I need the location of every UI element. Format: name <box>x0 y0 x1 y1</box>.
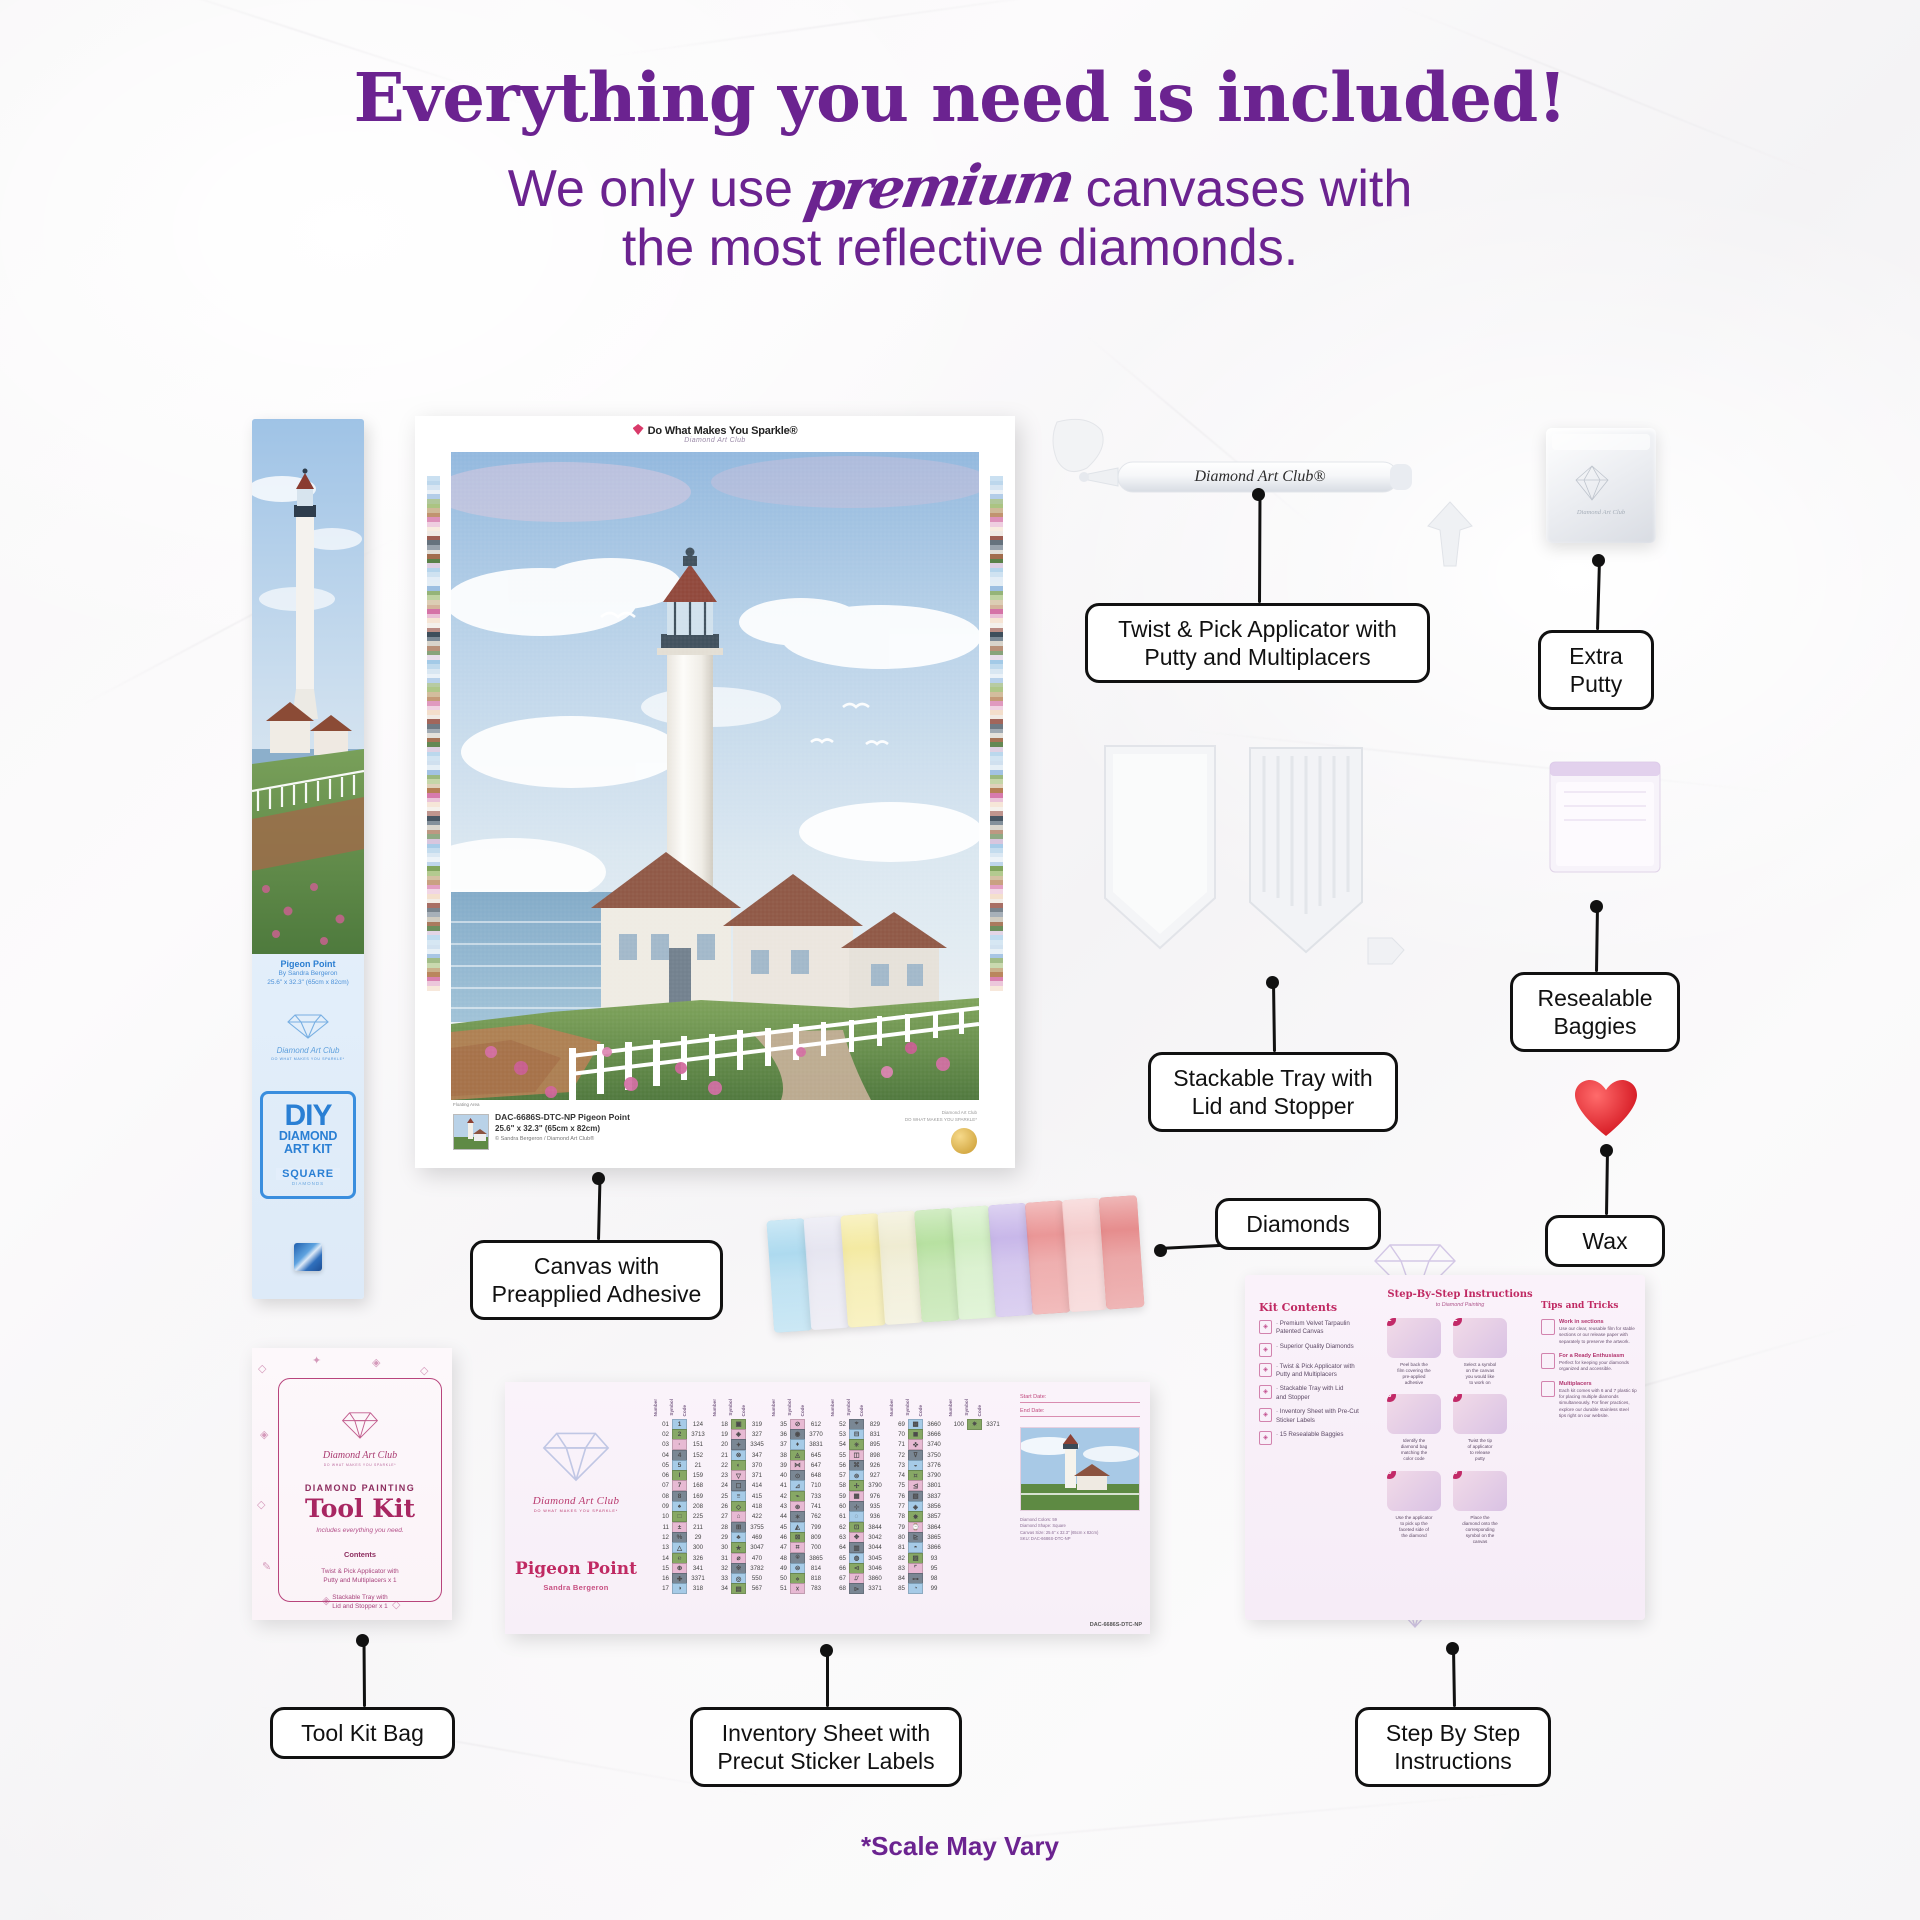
inventory-row: 74⌑3790 <box>889 1470 945 1480</box>
bag-wrap <box>1099 1195 1145 1309</box>
inventory-code: 3860 <box>864 1575 886 1582</box>
inventory-code: 3831 <box>805 1441 827 1448</box>
inventory-code: 3755 <box>746 1524 768 1531</box>
inventory-row: 25≡415 <box>712 1491 768 1501</box>
inventory-number: 25 <box>712 1493 731 1500</box>
inventory-header-code: Code <box>977 1405 999 1416</box>
inventory-number: 03 <box>653 1441 672 1448</box>
inventory-code: 3790 <box>923 1472 945 1479</box>
callout-extra-putty: Extra Putty <box>1538 630 1654 710</box>
inventory-code: 211 <box>687 1524 709 1531</box>
inventory-header-symbol: Symbol <box>846 1399 859 1416</box>
inventory-code: 225 <box>687 1513 709 1520</box>
tip-icon <box>1541 1353 1555 1369</box>
thumbnail-art <box>454 1115 488 1149</box>
inventory-row: 72⊽3750 <box>889 1450 945 1460</box>
leader-line-canvas <box>597 1178 601 1240</box>
inventory-number: 23 <box>712 1472 731 1479</box>
kit-item-icon: ◈ <box>1259 1363 1272 1377</box>
kit-item-icon: ◈ <box>1259 1408 1272 1422</box>
inventory-number: 26 <box>712 1503 731 1510</box>
inventory-header-symbol: Symbol <box>669 1399 682 1416</box>
step-image: 4 <box>1453 1394 1507 1434</box>
inventory-symbol: ☓ <box>790 1583 805 1594</box>
inventory-number: 40 <box>771 1472 790 1479</box>
instruction-step: 1Peel back the film covering the pre-app… <box>1385 1318 1443 1386</box>
inventory-code: 98 <box>923 1575 945 1582</box>
tool-kit-contents-label: Contents <box>279 1550 441 1559</box>
canvas-header-brand: Diamond Art Club <box>415 437 1015 444</box>
inventory-code: 3801 <box>923 1482 945 1489</box>
inventory-row: 69▩3660 <box>889 1419 945 1429</box>
inventory-number: 85 <box>889 1585 908 1592</box>
step-image: 3 <box>1387 1394 1441 1434</box>
inventory-row: 48⍟3865 <box>771 1553 827 1563</box>
tip-item: MultiplacersEach kit comes with 6 and 7 … <box>1541 1381 1637 1420</box>
inventory-header-symbol: Symbol <box>964 1399 977 1416</box>
inventory-number: 38 <box>771 1452 790 1459</box>
inventory-row: 44✶762 <box>771 1512 827 1522</box>
step-caption: Place the diamond onto the corresponding… <box>1451 1515 1509 1545</box>
inventory-row: 82▨93 <box>889 1553 945 1563</box>
subtitle-line2: the most reflective diamonds. <box>0 219 1920 278</box>
inventory-number: 100 <box>948 1421 967 1428</box>
inventory-header-code: Code <box>682 1405 704 1416</box>
leader-dot-extra-putty <box>1592 554 1605 567</box>
kit-contents-item: ◈· Twist & Pick Applicator with Putty an… <box>1259 1363 1375 1380</box>
step-image: 6 <box>1453 1471 1507 1511</box>
inventory-number: 74 <box>889 1472 908 1479</box>
inventory-preview-photo <box>1020 1427 1140 1511</box>
inventory-code: 3740 <box>923 1441 945 1448</box>
diy-box-brand: Diamond Art Club <box>252 1046 364 1056</box>
inventory-row: 39⋈647 <box>771 1460 827 1470</box>
inventory-title: Pigeon Point <box>515 1559 637 1579</box>
canvas-legend-right <box>990 476 1003 991</box>
step-number: 6 <box>1453 1471 1462 1479</box>
kit-item-label: · Superior Quality Diamonds <box>1276 1343 1354 1357</box>
inventory-code: 647 <box>805 1462 827 1469</box>
inventory-row: 77◈3856 <box>889 1501 945 1511</box>
kit-contents-item: ◈· Stackable Tray with Lid and Stopper <box>1259 1385 1375 1402</box>
pigeon-point-lighthouse-artwork <box>451 452 979 1100</box>
diy-shape-sub: DIAMONDS <box>265 1181 351 1186</box>
kit-item-label: · Twist & Pick Applicator with Putty and… <box>1276 1363 1355 1380</box>
inventory-row: 57⊚927 <box>830 1470 886 1480</box>
inventory-code: 152 <box>687 1452 709 1459</box>
leader-dot-instructions <box>1446 1642 1459 1655</box>
inventory-code: 371 <box>746 1472 768 1479</box>
inventory-row: 37♦3831 <box>771 1440 827 1450</box>
inventory-row: 29♣469 <box>712 1532 768 1542</box>
inventory-code: 341 <box>687 1565 709 1572</box>
kit-contents-item: ◈· 15 Resealable Baggies <box>1259 1431 1375 1445</box>
tip-heading: For a Ready Enthusiasm <box>1559 1353 1637 1359</box>
preview-art <box>1021 1428 1139 1510</box>
inventory-column: NumberSymbolCode69▩366070◼366671✜374072⊽… <box>889 1396 945 1628</box>
inventory-number: 08 <box>653 1493 672 1500</box>
inventory-column: NumberSymbolCode100✷3371 <box>948 1396 1004 1628</box>
svg-text:Diamond Art Club: Diamond Art Club <box>1576 509 1626 516</box>
leader-dot-inventory-sheet <box>820 1644 833 1657</box>
inventory-row: 49⊜814 <box>771 1563 827 1573</box>
diamond-swatch-icon <box>294 1243 322 1271</box>
inventory-header-number: Number <box>653 1399 669 1416</box>
inventory-number: 13 <box>653 1544 672 1551</box>
leader-line-instructions <box>1452 1648 1456 1707</box>
inventory-code: 327 <box>746 1431 768 1438</box>
inventory-row: 62⊡3844 <box>830 1522 886 1532</box>
instruction-step: 5Use the applicator to pick up the facet… <box>1385 1471 1443 1545</box>
tool-kit-brand: Diamond Art Club <box>279 1450 441 1461</box>
inventory-row: 46⊠809 <box>771 1532 827 1542</box>
inventory-row: 61◌936 <box>830 1512 886 1522</box>
inventory-code: 936 <box>864 1513 886 1520</box>
kit-item-label: · 15 Resealable Baggies <box>1276 1431 1343 1445</box>
callout-diamonds: Diamonds <box>1215 1198 1381 1250</box>
inventory-row: 78✸3857 <box>889 1512 945 1522</box>
inventory-number: 53 <box>830 1431 849 1438</box>
inventory-header-row: NumberSymbolCode <box>830 1396 886 1416</box>
callout-applicator: Twist & Pick Applicator with Putty and M… <box>1085 603 1430 683</box>
inventory-number: 76 <box>889 1493 908 1500</box>
inventory-number: 63 <box>830 1534 849 1541</box>
diamond-bag <box>1099 1195 1145 1309</box>
inventory-code: 783 <box>805 1585 827 1592</box>
tray-lid <box>1240 742 1372 960</box>
leader-dot-diamonds <box>1154 1244 1167 1257</box>
inventory-code: 95 <box>923 1565 945 1572</box>
leader-line-inventory-sheet <box>826 1650 829 1707</box>
inventory-code: 319 <box>746 1421 768 1428</box>
inventory-number: 83 <box>889 1565 908 1572</box>
inventory-code: 3856 <box>923 1503 945 1510</box>
gold-seal-icon <box>951 1128 977 1154</box>
inventory-sku: DAC-6686S-DTC-NP <box>1090 1622 1142 1628</box>
inventory-row: 16✚3371 <box>653 1573 709 1583</box>
inventory-header-row: NumberSymbolCode <box>653 1396 709 1416</box>
inventory-row: 43⊛741 <box>771 1501 827 1511</box>
inventory-code: 612 <box>805 1421 827 1428</box>
tip-heading: Work in sections <box>1559 1319 1637 1325</box>
inventory-code: 700 <box>805 1544 827 1551</box>
deco-gem-icon: ◈ <box>372 1356 380 1369</box>
inventory-number: 58 <box>830 1482 849 1489</box>
end-date-field[interactable]: End Date: <box>1020 1408 1140 1417</box>
inventory-row: 14℮326 <box>653 1553 709 1563</box>
inventory-code: 418 <box>746 1503 768 1510</box>
kit-contents-title: Kit Contents <box>1259 1301 1375 1314</box>
inventory-header-number: Number <box>712 1399 728 1416</box>
inventory-row: 56⌘926 <box>830 1460 886 1470</box>
canvas-header-logo-text: Do What Makes You Sparkle® <box>648 425 798 437</box>
inventory-code: 814 <box>805 1565 827 1572</box>
inventory-number: 57 <box>830 1472 849 1479</box>
inventory-number: 51 <box>771 1585 790 1592</box>
inventory-row: 65◍3045 <box>830 1553 886 1563</box>
canvas-artwork <box>451 452 979 1100</box>
leader-line-extra-putty <box>1596 560 1601 630</box>
tips-section: Tips and Tricks Work in sectionsUse our … <box>1541 1301 1637 1419</box>
inventory-row: 12%29 <box>653 1532 709 1542</box>
canvas-brand-mini-sub: DO WHAT MAKES YOU SPARKLE* <box>905 1117 977 1124</box>
inventory-row: 23▽371 <box>712 1470 768 1480</box>
inventory-number: 61 <box>830 1513 849 1520</box>
inventory-header-symbol: Symbol <box>905 1399 918 1416</box>
inventory-row: 15⊕341 <box>653 1563 709 1573</box>
leader-line-stackable-tray <box>1272 982 1276 1052</box>
kit-item-icon: ◈ <box>1259 1320 1272 1334</box>
diamond-painting-canvas: Do What Makes You Sparkle® Diamond Art C… <box>415 416 1015 1168</box>
callout-inventory-sheet: Inventory Sheet with Precut Sticker Labe… <box>690 1707 962 1787</box>
deco-gem-icon: ◇ <box>420 1364 428 1377</box>
inventory-cover: Diamond Art Club DO WHAT MAKES YOU SPARK… <box>505 1382 647 1634</box>
inventory-code: 414 <box>746 1482 768 1489</box>
tip-heading: Multiplacers <box>1559 1381 1637 1387</box>
inventory-number: 54 <box>830 1441 849 1448</box>
inventory-number: 46 <box>771 1534 790 1541</box>
inventory-row: 088169 <box>653 1491 709 1501</box>
inventory-number: 22 <box>712 1462 731 1469</box>
legend-swatch <box>427 986 440 991</box>
inventory-code: 422 <box>746 1513 768 1520</box>
steps-subtitle: to Diamond Painting <box>1385 1302 1535 1308</box>
start-date-field[interactable]: Start Date: <box>1020 1394 1140 1403</box>
inventory-number: 70 <box>889 1431 908 1438</box>
inventory-row: 41⊿710 <box>771 1481 827 1491</box>
diamond-icon <box>285 1013 331 1039</box>
callout-stackable-tray: Stackable Tray with Lid and Stopper <box>1148 1052 1398 1132</box>
inventory-number: 04 <box>653 1452 672 1459</box>
floating-area-label: Floating Area <box>453 1102 480 1107</box>
instruction-step: 3Identify the diamond bag matching the c… <box>1385 1394 1443 1462</box>
diy-kit-box: Pigeon Point By Sandra Bergeron 25.6" x … <box>252 419 364 1299</box>
inventory-row: 59▦976 <box>830 1491 886 1501</box>
deco-gem-icon: ◈ <box>260 1428 268 1441</box>
inventory-number: 55 <box>830 1452 849 1459</box>
inventory-code: 159 <box>687 1472 709 1479</box>
inventory-header-row: NumberSymbolCode <box>948 1396 1004 1416</box>
inventory-code: 799 <box>805 1524 827 1531</box>
tip-icon <box>1541 1381 1555 1397</box>
kit-item-label: · Inventory Sheet with Pre-Cut Sticker L… <box>1276 1408 1359 1425</box>
putty-blob <box>1045 418 1115 478</box>
step-number: 5 <box>1387 1471 1396 1479</box>
steps-section: Step-By-Step Instructions to Diamond Pai… <box>1385 1289 1535 1545</box>
subtitle-part-a: We only use <box>508 160 808 218</box>
inventory-number: 34 <box>712 1585 731 1592</box>
inventory-number: 41 <box>771 1482 790 1489</box>
inventory-code: 168 <box>687 1482 709 1489</box>
inventory-number: 01 <box>653 1421 672 1428</box>
inventory-number: 82 <box>889 1555 908 1562</box>
inventory-header-symbol: Symbol <box>787 1399 800 1416</box>
subtitle-premium-word: premium <box>801 151 1078 223</box>
inventory-row: 09♠208 <box>653 1501 709 1511</box>
tool-kit-brand-sub: DO WHAT MAKES YOU SPARKLE* <box>279 1463 441 1467</box>
inventory-code: 370 <box>746 1462 768 1469</box>
inventory-row: 66⊲3046 <box>830 1563 886 1573</box>
inventory-row: 84⊶98 <box>889 1573 945 1583</box>
leader-dot-tool-kit-bag <box>356 1634 369 1647</box>
inventory-number: 81 <box>889 1544 908 1551</box>
inventory-row: 17◑318 <box>653 1584 709 1594</box>
inventory-number: 64 <box>830 1544 849 1551</box>
inventory-row: 26◇418 <box>712 1501 768 1511</box>
canvas-header: Do What Makes You Sparkle® Diamond Art C… <box>415 424 1015 444</box>
inventory-symbol: ◑ <box>672 1583 687 1594</box>
inventory-row: 81◓3866 <box>889 1543 945 1553</box>
inventory-code: 831 <box>864 1431 886 1438</box>
inventory-number: 24 <box>712 1482 731 1489</box>
deco-sparkle-icon: ✦ <box>312 1354 321 1367</box>
tray-stopper <box>1362 930 1410 970</box>
inventory-number: 07 <box>653 1482 672 1489</box>
inventory-symbol: ▤ <box>731 1583 746 1594</box>
inventory-code: 550 <box>746 1575 768 1582</box>
extra-putty-bag: Diamond Art Club <box>1546 428 1656 543</box>
inventory-code: 3713 <box>687 1431 709 1438</box>
inventory-number: 77 <box>889 1503 908 1510</box>
inventory-header-number: Number <box>948 1399 964 1416</box>
inventory-code: 3790 <box>864 1482 886 1489</box>
inventory-row: 011124 <box>653 1419 709 1429</box>
inventory-row: 60⊹935 <box>830 1501 886 1511</box>
instructions-panel: Kit Contents ◈· Premium Velvet Tarpaulin… <box>1245 1275 1645 1620</box>
inventory-code: 3345 <box>746 1441 768 1448</box>
inventory-code: 93 <box>923 1555 945 1562</box>
callout-canvas: Canvas with Preapplied Adhesive <box>470 1240 723 1320</box>
canvas-footer: Floating Area DAC-6686S-DTC-NP Pigeon Po… <box>453 1110 977 1154</box>
inventory-number: 48 <box>771 1555 790 1562</box>
inventory-number: 20 <box>712 1441 731 1448</box>
callout-tool-kit-bag: Tool Kit Bag <box>270 1707 455 1759</box>
inventory-row: 20✦3345 <box>712 1440 768 1450</box>
kit-contents-item: ◈· Superior Quality Diamonds <box>1259 1343 1375 1357</box>
inventory-number: 42 <box>771 1493 790 1500</box>
callout-wax: Wax <box>1545 1215 1665 1267</box>
inventory-row: 38◬645 <box>771 1450 827 1460</box>
inventory-number: 60 <box>830 1503 849 1510</box>
inventory-code: 3776 <box>923 1462 945 1469</box>
leader-dot-wax <box>1600 1144 1613 1157</box>
tray-lid-icon <box>1240 742 1372 960</box>
inventory-number: 36 <box>771 1431 790 1438</box>
inventory-row: 75⊴3801 <box>889 1481 945 1491</box>
diamond-icon <box>633 424 644 435</box>
scale-note: *Scale May Vary <box>0 1831 1920 1862</box>
inventory-number: 29 <box>712 1534 731 1541</box>
leader-dot-applicator <box>1252 488 1265 501</box>
inventory-code: 976 <box>864 1493 886 1500</box>
inventory-row: 03·151 <box>653 1440 709 1450</box>
inventory-number: 17 <box>653 1585 672 1592</box>
canvas-sku: DAC-6686S-DTC-NP Pigeon Point <box>495 1112 630 1122</box>
inventory-row: 32※3782 <box>712 1563 768 1573</box>
inventory-sheet: Diamond Art Club DO WHAT MAKES YOU SPARK… <box>505 1382 1150 1634</box>
inventory-number: 18 <box>712 1421 731 1428</box>
inventory-row: 27⌂422 <box>712 1512 768 1522</box>
inventory-header-code: Code <box>800 1405 822 1416</box>
inventory-number: 65 <box>830 1555 849 1562</box>
inventory-code: 710 <box>805 1482 827 1489</box>
inventory-number: 78 <box>889 1513 908 1520</box>
tip-body: Use our clear, reusable film for stable … <box>1559 1326 1637 1345</box>
step-number: 1 <box>1387 1318 1396 1326</box>
step-number: 2 <box>1453 1318 1462 1326</box>
inventory-row: 36◉3770 <box>771 1429 827 1439</box>
inventory-row: 71✜3740 <box>889 1440 945 1450</box>
step-caption: Peel back the film covering the pre-appl… <box>1385 1362 1443 1386</box>
diy-box-size: 25.6" x 32.3" (65cm x 82cm) <box>252 979 364 987</box>
inventory-code: 741 <box>805 1503 827 1510</box>
inventory-row: 53⊟831 <box>830 1429 886 1439</box>
inventory-number: 43 <box>771 1503 790 1510</box>
tip-icon <box>1541 1319 1555 1335</box>
callout-resealable-baggies: Resealable Baggies <box>1510 972 1680 1052</box>
inventory-row: 54✳895 <box>830 1440 886 1450</box>
inventory-brand: Diamond Art Club <box>533 1495 620 1507</box>
inventory-row: 83⌜95 <box>889 1563 945 1573</box>
inventory-code: 300 <box>687 1544 709 1551</box>
diamond-bags-strip <box>767 1195 1144 1333</box>
inventory-row: 45◭799 <box>771 1522 827 1532</box>
inventory-number: 32 <box>712 1565 731 1572</box>
inventory-number: 30 <box>712 1544 731 1551</box>
inventory-column: NumberSymbolCode35⊘61236◉377037♦383138◬6… <box>771 1396 827 1628</box>
tips-title: Tips and Tricks <box>1541 1301 1637 1311</box>
inventory-row: 68⊳3371 <box>830 1584 886 1594</box>
inventory-number: 66 <box>830 1565 849 1572</box>
step-image: 5 <box>1387 1471 1441 1511</box>
kit-item-icon: ◈ <box>1259 1431 1272 1445</box>
canvas-brand-mini: Diamond Art Club <box>905 1110 977 1117</box>
tip-item: Work in sectionsUse our clear, reusable … <box>1541 1319 1637 1345</box>
inventory-number: 21 <box>712 1452 731 1459</box>
inventory-code: 415 <box>746 1493 768 1500</box>
inventory-code: 3837 <box>923 1493 945 1500</box>
callout-instructions: Step By Step Instructions <box>1355 1707 1551 1787</box>
inventory-code: 3864 <box>923 1524 945 1531</box>
inventory-meta: Diamond Colors: 59 Diamond Shape: Square… <box>1020 1517 1140 1542</box>
canvas-credit: © Sandra Bergeron / Diamond Art Club® <box>495 1136 630 1142</box>
inventory-code: 208 <box>687 1503 709 1510</box>
diy-box-brand-sub: DO WHAT MAKES YOU SPARKLE* <box>252 1057 364 1062</box>
inventory-row: 077168 <box>653 1481 709 1491</box>
svg-text:Diamond Art Club®: Diamond Art Club® <box>1194 468 1326 485</box>
inventory-code: 898 <box>864 1452 886 1459</box>
inventory-header-row: NumberSymbolCode <box>889 1396 945 1416</box>
inventory-row: 31⌀470 <box>712 1553 768 1563</box>
diamond-icon <box>340 1409 380 1441</box>
inventory-row: 34▤567 <box>712 1584 768 1594</box>
inventory-code: 3857 <box>923 1513 945 1520</box>
tip-item: For a Ready EnthusiasmPerfect for keepin… <box>1541 1353 1637 1373</box>
inventory-header-number: Number <box>830 1399 846 1416</box>
inventory-row: 100✷3371 <box>948 1419 1004 1429</box>
resealable-baggies <box>1546 758 1664 876</box>
diy-kind-2: ART KIT <box>265 1143 351 1156</box>
instruction-step: 6Place the diamond onto the correspondin… <box>1451 1471 1509 1545</box>
inventory-row: 0223713 <box>653 1429 709 1439</box>
inventory-code: 645 <box>805 1452 827 1459</box>
kit-item-icon: ◈ <box>1259 1343 1272 1357</box>
canvas-footer-right: Diamond Art Club DO WHAT MAKES YOU SPARK… <box>905 1110 977 1124</box>
inventory-code: 3371 <box>687 1575 709 1582</box>
inventory-number: 71 <box>889 1441 908 1448</box>
inventory-code: 3865 <box>805 1555 827 1562</box>
inventory-row: 79⌚3864 <box>889 1522 945 1532</box>
